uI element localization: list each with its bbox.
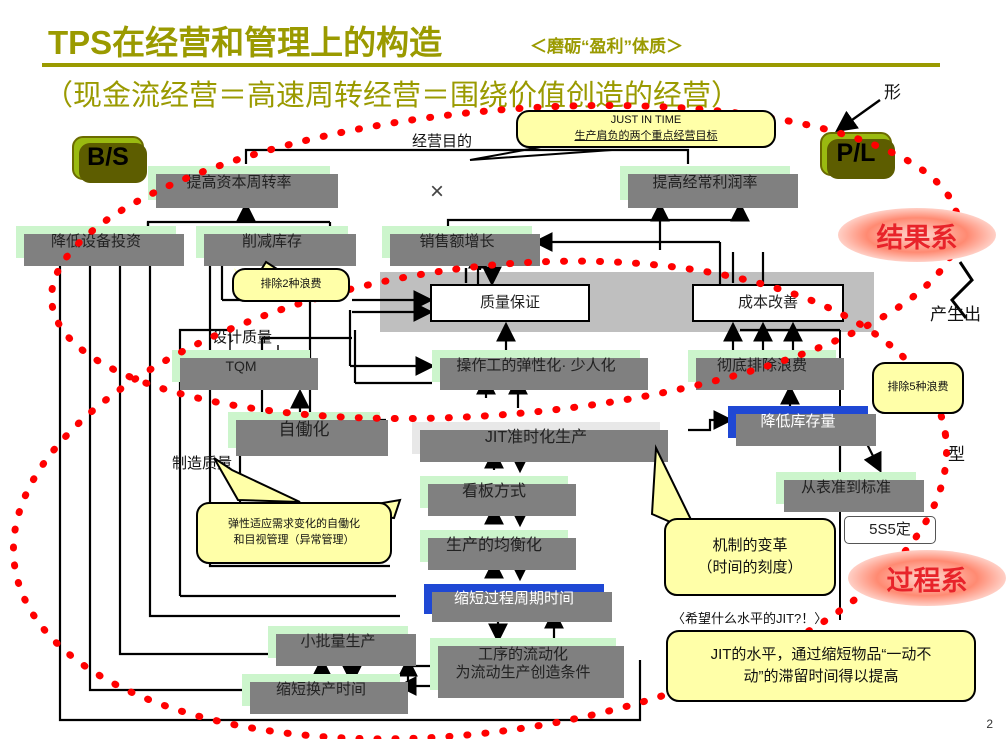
callout-jit-level[interactable]: JIT的水平，通过缩短物品“一动不 动”的滞留时间得以提高 [666, 630, 976, 702]
title-divider [42, 63, 940, 67]
node-shorten-changeover[interactable]: 缩短换产时间 [242, 674, 400, 706]
node-from-surface-to-standard[interactable]: 从表准到标准 [776, 472, 916, 504]
node-bs-label: B/S [87, 143, 129, 173]
callout-text: 排除5种浪费 [887, 380, 948, 396]
node-profit-rate[interactable]: 提高经常利润率 [620, 166, 790, 200]
node-5s5fixed[interactable]: 5S5定 [844, 516, 936, 544]
callout-text: 机制的变革 （时间的刻度） [697, 535, 802, 579]
node-quality-assurance[interactable]: 质量保证 [430, 284, 590, 322]
node-label: 看板方式 [462, 483, 526, 502]
slide-canvas: TPS在经营和管理上的构造 ＜磨砺“盈利”体质＞ （现金流经营＝高速周转经营＝围… [0, 0, 1007, 739]
badge-label: 结果系 [877, 216, 958, 255]
label-business-purpose: 经营目的 [412, 130, 472, 151]
node-eliminate-waste[interactable]: 彻底排除浪费 [688, 350, 836, 382]
node-label: 销售额增长 [419, 233, 494, 251]
label-jit-question: 〈希望什么水平的JIT?！〉 [672, 608, 827, 627]
node-shorten-cycle-time[interactable]: 缩短过程周期时间 [424, 584, 604, 614]
node-label: 提高经常利润率 [652, 174, 757, 192]
node-tqm[interactable]: TQM [172, 350, 310, 382]
badge-process-system: 过程系 [848, 550, 1006, 606]
node-small-lot[interactable]: 小批量生产 [268, 626, 408, 658]
node-label: 生产的均衡化 [446, 537, 542, 556]
node-label: 自働化 [279, 420, 330, 440]
node-reduce-inventory[interactable]: 削减库存 [196, 226, 348, 258]
label-design-quality: 设计质量 [212, 326, 272, 347]
node-label: 5S5定 [869, 521, 911, 539]
callout-waste-5[interactable]: 排除5种浪费 [872, 362, 964, 414]
label-multiply-sign: × [430, 178, 444, 206]
node-label: 缩短换产时间 [276, 681, 366, 699]
callout-just-in-time[interactable]: JUST IN TIME 生产肩负的两个重点经营目标 [516, 110, 776, 148]
badge-label: 过程系 [887, 559, 968, 598]
node-label: 小批量生产 [300, 633, 375, 651]
callout-text: 排除2种浪费 [260, 277, 321, 293]
node-jidoka[interactable]: 自働化 [228, 412, 380, 448]
node-label: 提高资本周转率 [186, 174, 291, 192]
node-sales-growth[interactable]: 销售额增长 [382, 226, 532, 258]
node-label: 削减库存 [242, 233, 302, 251]
node-label: 降低设备投资 [51, 233, 141, 251]
node-label: 质量保证 [480, 294, 540, 312]
node-pl-label: P/L [837, 139, 876, 169]
node-label: 缩短过程周期时间 [454, 590, 574, 608]
node-label: 降低库存量 [760, 413, 835, 431]
label-produce: 产生出 [930, 300, 981, 325]
node-capital-turnover[interactable]: 提高资本周转率 [148, 166, 330, 200]
callout-text: 弹性适应需求变化的自働化 和目视管理（异常管理） [228, 517, 360, 549]
callout-line-1: JUST IN TIME [611, 113, 682, 129]
node-label: JIT准时化生产 [485, 429, 587, 448]
callout-line-2: 生产肩负的两个重点经营目标 [575, 129, 718, 145]
badge-result-system: 结果系 [838, 208, 996, 262]
callout-text: JIT的水平，通过缩短物品“一动不 动”的滞留时间得以提高 [711, 644, 932, 688]
page-subtitle: ＜磨砺“盈利”体质＞ [530, 32, 683, 57]
callout-jidoka-note[interactable]: 弹性适应需求变化的自働化 和目视管理（异常管理） [196, 502, 392, 564]
node-label: 彻底排除浪费 [717, 357, 807, 375]
node-operator-flexibility[interactable]: 操作工的弹性化· 少人化 [432, 350, 640, 382]
page-title-line2: （现金流经营＝高速周转经营＝围绕价值创造的经营） [44, 72, 740, 114]
label-type: 型 [948, 440, 965, 465]
callout-mechanism-change[interactable]: 机制的变革 （时间的刻度） [664, 518, 836, 596]
node-reduce-stock-amount[interactable]: 降低库存量 [728, 406, 868, 438]
node-lower-equipment-investment[interactable]: 降低设备投资 [16, 226, 176, 258]
node-bs[interactable]: B/S [72, 136, 144, 180]
page-title: TPS在经营和管理上的构造 [48, 16, 442, 64]
node-process-flow[interactable]: 工序的流动化 为流动生产创造条件 [430, 638, 616, 690]
node-jit-production[interactable]: JIT准时化生产 [412, 422, 660, 454]
node-label: 从表准到标准 [801, 479, 891, 497]
node-kanban[interactable]: 看板方式 [420, 476, 568, 508]
page-number: 2 [986, 717, 993, 731]
node-label: TQM [225, 358, 256, 375]
node-label: 成本改善 [738, 294, 798, 312]
node-label: 工序的流动化 为流动生产创造条件 [455, 646, 590, 681]
node-label: 操作工的弹性化· 少人化 [456, 357, 615, 375]
callout-waste-2[interactable]: 排除2种浪费 [232, 268, 350, 302]
node-level-production[interactable]: 生产的均衡化 [420, 530, 568, 562]
label-shape: 形 [884, 78, 901, 103]
label-manufacture-quality: 制造质量 [172, 452, 232, 473]
node-cost-improvement[interactable]: 成本改善 [692, 284, 844, 322]
node-pl[interactable]: P/L [820, 132, 892, 176]
